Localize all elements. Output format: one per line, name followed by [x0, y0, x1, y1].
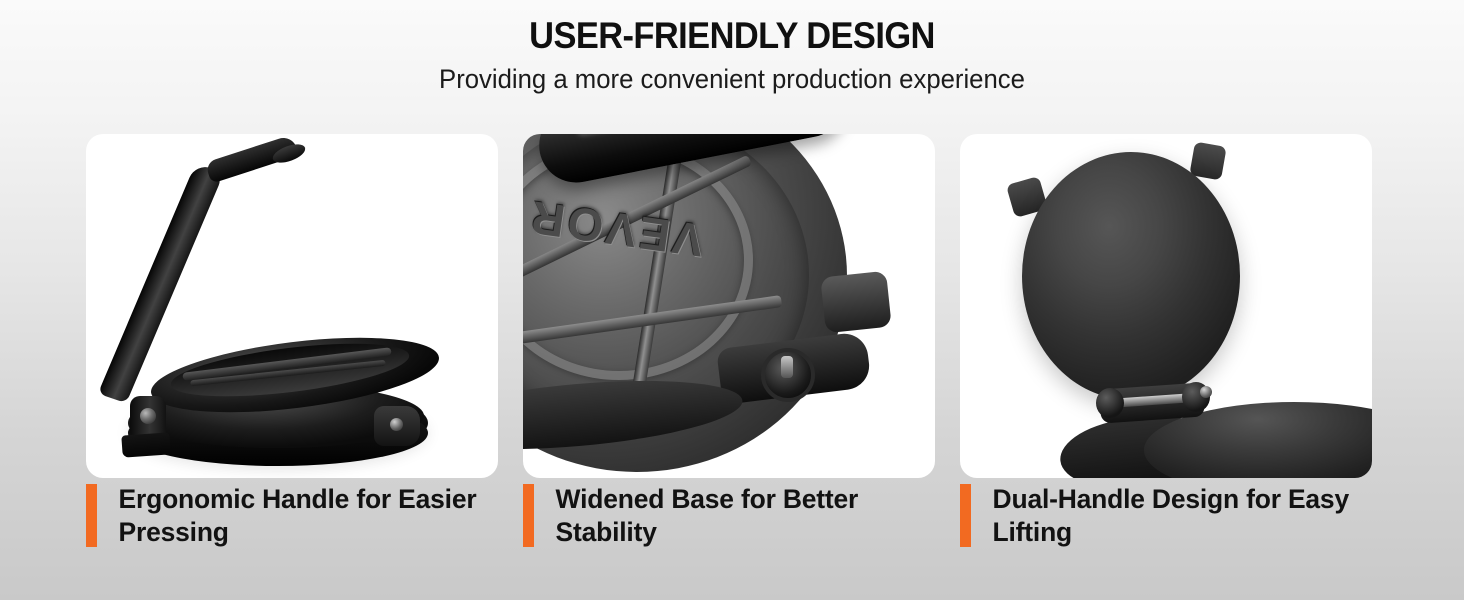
feature-caption-text-3: Dual-Handle Design for Easy Lifting: [971, 483, 1364, 549]
hinge-pin-shape: [781, 356, 793, 378]
feature-caption-text-1: Ergonomic Handle for Easier Pressing: [97, 483, 490, 549]
feature-caption-1: Ergonomic Handle for Easier Pressing: [86, 483, 498, 549]
page-subtitle: Providing a more convenient production e…: [22, 62, 1442, 96]
feature-card-row: Ergonomic Handle for Easier Pressing VEV…: [86, 134, 1386, 549]
side-lug-shape: [820, 271, 891, 334]
tortilla-press-closeup-illustration: VEVOR: [523, 134, 935, 478]
accent-bar-icon: [86, 484, 97, 547]
feature-caption-text-2: Widened Base for Better Stability: [534, 483, 927, 549]
feature-caption-2: Widened Base for Better Stability: [523, 483, 935, 549]
hinge-bolt-shape: [1200, 386, 1212, 398]
page-title: USER-FRIENDLY DESIGN: [51, 14, 1413, 58]
product-photo-dual-handle: [960, 134, 1372, 478]
feature-caption-3: Dual-Handle Design for Easy Lifting: [960, 483, 1372, 549]
product-photo-ergonomic-handle: [86, 134, 498, 478]
feature-card-3: Dual-Handle Design for Easy Lifting: [960, 134, 1372, 549]
upright-top-plate-shape: [1022, 152, 1240, 400]
accent-bar-icon: [523, 484, 534, 547]
tortilla-press-side-view-illustration: [86, 134, 498, 478]
feature-card-1: Ergonomic Handle for Easier Pressing: [86, 134, 498, 549]
tortilla-press-upright-illustration: [960, 134, 1372, 478]
rear-lug-bolt-shape: [390, 418, 403, 431]
header: USER-FRIENDLY DESIGN Providing a more co…: [0, 0, 1464, 96]
base-foot-shape: [121, 432, 170, 457]
hinge-pivot-bolt-shape: [140, 408, 156, 424]
product-photo-widened-base: VEVOR: [523, 134, 935, 478]
hinge-cap-left-shape: [1096, 388, 1124, 418]
feature-card-2: VEVOR Widened Base for Better Stability: [523, 134, 935, 549]
accent-bar-icon: [960, 484, 971, 547]
